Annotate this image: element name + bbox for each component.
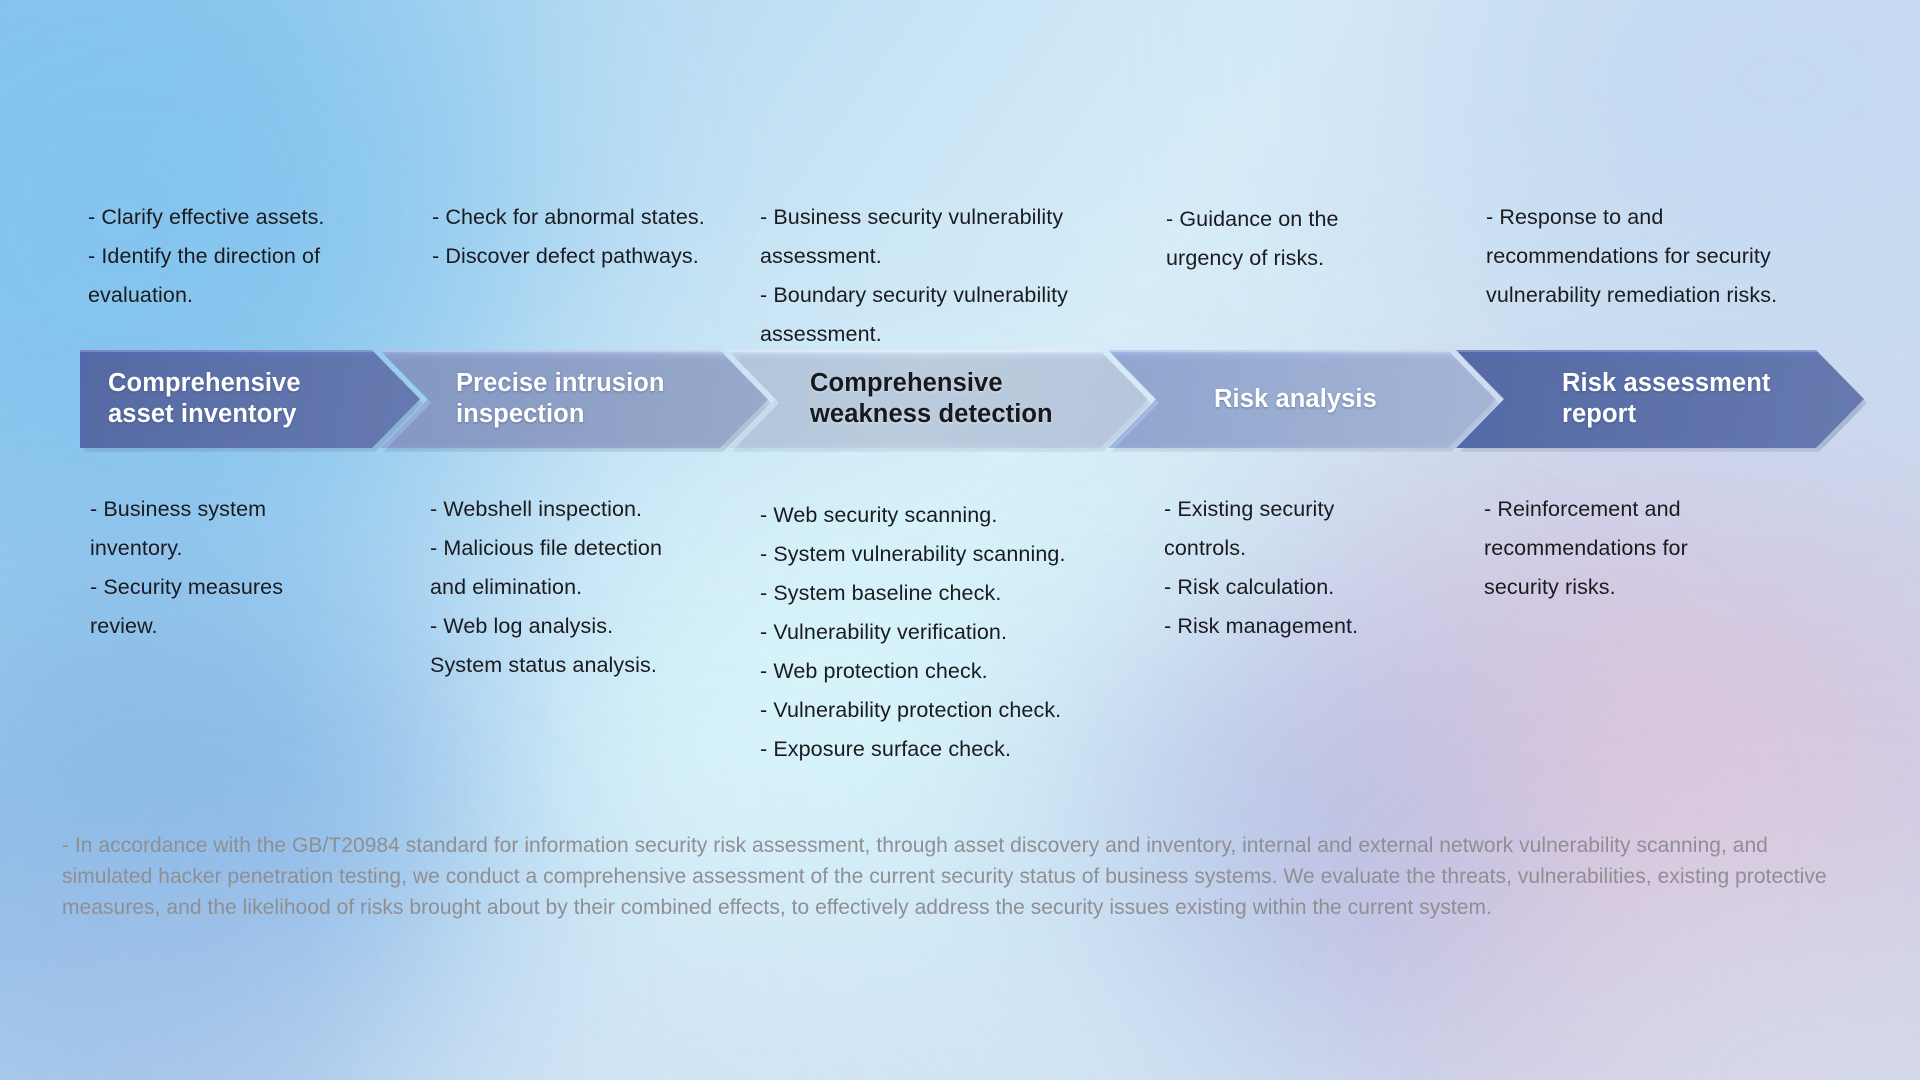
process-step-comprehensive-asset-inventory[interactable]: Comprehensive asset inventory	[80, 350, 420, 448]
step-1-title: Comprehensive asset inventory	[108, 368, 301, 430]
stage-1-bottom-notes: - Business system inventory. - Security …	[90, 490, 370, 646]
stage-2-bottom-notes: - Webshell inspection. - Malicious file …	[430, 490, 730, 685]
step-5-title: Risk assessment report	[1562, 368, 1770, 430]
stage-2-top-notes: - Check for abnormal states. - Discover …	[432, 198, 732, 276]
slide-canvas: - Clarify effective assets. - Identify t…	[0, 0, 1920, 1080]
stage-1-top-notes: - Clarify effective assets. - Identify t…	[88, 198, 378, 315]
process-step-comprehensive-weakness-detection[interactable]: Comprehensive weakness detection	[728, 350, 1148, 448]
step-2-title: Precise intrusion inspection	[456, 368, 665, 430]
stage-5-bottom-notes: - Reinforcement and recommendations for …	[1484, 490, 1784, 607]
footer-description: - In accordance with the GB/T20984 stand…	[62, 830, 1862, 923]
step-3-title: Comprehensive weakness detection	[810, 368, 1053, 430]
process-step-precise-intrusion-inspection[interactable]: Precise intrusion inspection	[380, 350, 768, 448]
stage-3-top-notes: - Business security vulnerability assess…	[760, 198, 1100, 354]
process-arrow-band: Comprehensive asset inventory Precise in…	[80, 350, 1864, 448]
step-4-title: Risk analysis	[1214, 384, 1377, 415]
process-step-risk-assessment-report[interactable]: Risk assessment report	[1456, 350, 1864, 448]
stage-4-top-notes: - Guidance on the urgency of risks.	[1166, 200, 1426, 278]
process-step-risk-analysis[interactable]: Risk analysis	[1108, 350, 1496, 448]
stage-5-top-notes: - Response to and recommendations for se…	[1486, 198, 1816, 315]
stage-4-bottom-notes: - Existing security controls. - Risk cal…	[1164, 490, 1414, 646]
stage-3-bottom-notes: - Web security scanning. - System vulner…	[760, 496, 1100, 769]
